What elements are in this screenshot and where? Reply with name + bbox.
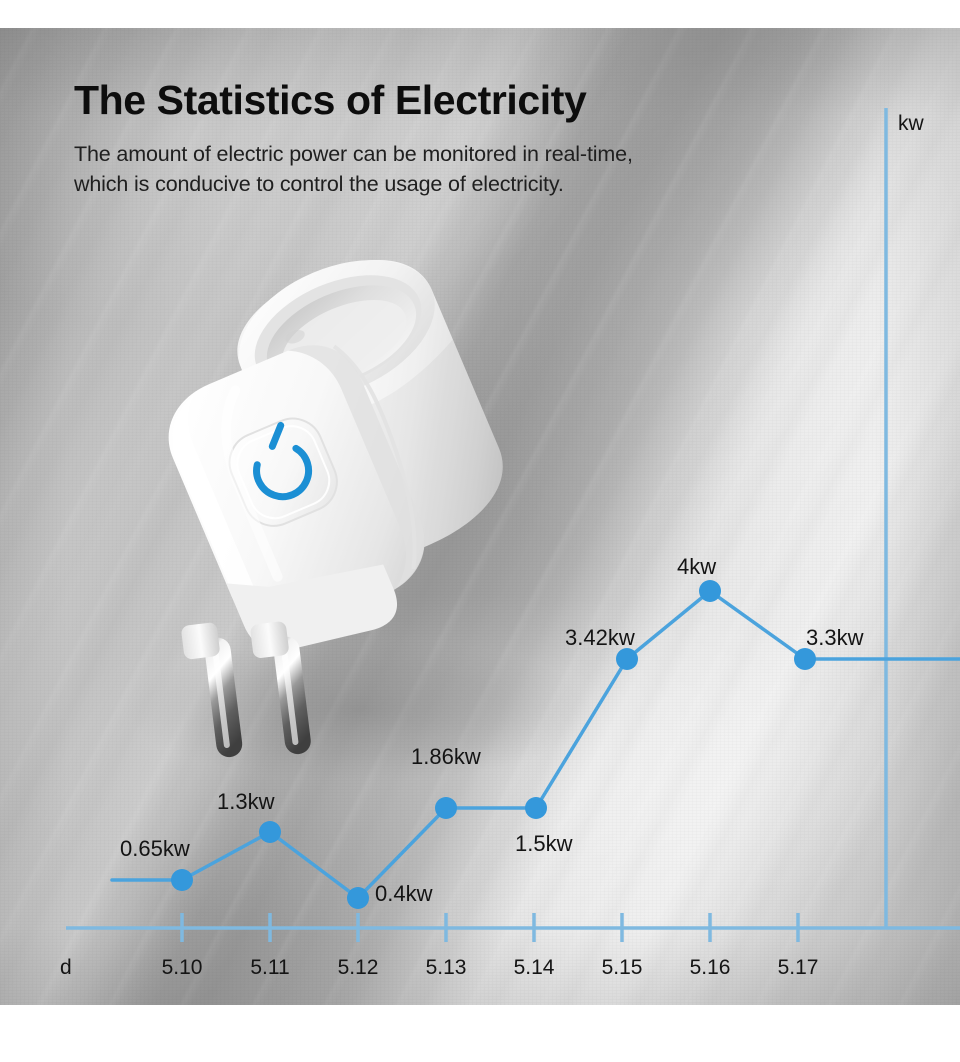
data-point[interactable] xyxy=(699,580,721,602)
data-point-label: 1.5kw xyxy=(515,831,573,856)
page-title: The Statistics of Electricity xyxy=(74,78,894,122)
y-axis-unit-label: kw xyxy=(898,112,925,135)
data-point[interactable] xyxy=(525,797,547,819)
data-markers xyxy=(171,580,816,909)
x-tick-label: 5.13 xyxy=(426,956,467,979)
data-point-label: 1.3kw xyxy=(217,789,275,814)
data-point[interactable] xyxy=(259,821,281,843)
data-point-label: 0.65kw xyxy=(120,836,190,861)
chart-axes xyxy=(66,108,960,942)
x-tick-label: 5.15 xyxy=(602,956,643,979)
x-tick-label: 5.12 xyxy=(338,956,379,979)
subtitle-line-2: which is conducive to control the usage … xyxy=(74,170,894,200)
data-point[interactable] xyxy=(347,887,369,909)
data-point-label: 1.86kw xyxy=(411,744,481,769)
x-axis-tick-labels: 5.10 5.11 5.12 5.13 5.14 5.15 5.16 5.17 xyxy=(162,956,819,979)
data-point-label: 0.4kw xyxy=(375,881,433,906)
x-tick-label: 5.10 xyxy=(162,956,203,979)
x-tick-label: 5.11 xyxy=(250,956,289,979)
promo-page: The Statistics of Electricity The amount… xyxy=(0,0,960,1062)
data-point[interactable] xyxy=(171,869,193,891)
x-tick-label: 5.17 xyxy=(778,956,819,979)
subtitle-line-1: The amount of electric power can be moni… xyxy=(74,140,894,170)
x-tick-label: 5.14 xyxy=(514,956,555,979)
data-point-label: 3.42kw xyxy=(565,625,635,650)
x-axis-unit-label: d xyxy=(60,956,72,979)
data-point[interactable] xyxy=(794,648,816,670)
data-point[interactable] xyxy=(435,797,457,819)
headline-block: The Statistics of Electricity The amount… xyxy=(74,78,894,200)
data-point[interactable] xyxy=(616,648,638,670)
x-tick-label: 5.16 xyxy=(690,956,731,979)
page-subtitle: The amount of electric power can be moni… xyxy=(74,140,894,199)
data-point-label: 3.3kw xyxy=(806,625,864,650)
data-point-label: 4kw xyxy=(677,554,716,579)
